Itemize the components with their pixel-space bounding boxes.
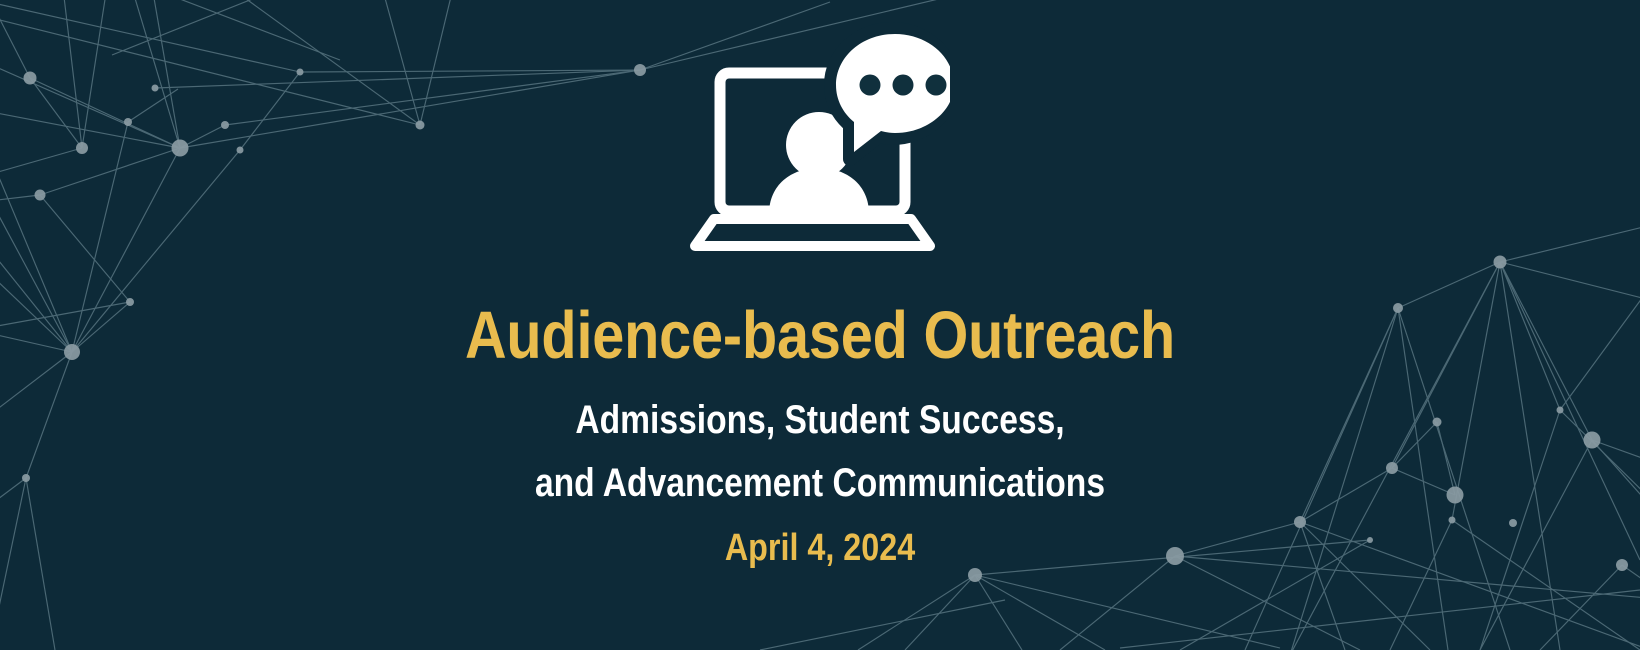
subtitle-line-2: and Advancement Communications: [131, 463, 1509, 503]
bubble-dot-3: [926, 75, 947, 96]
page-title: Audience-based Outreach: [115, 302, 1525, 369]
speech-bubble-group: [831, 29, 950, 159]
text-block: Audience-based Outreach Admissions, Stud…: [0, 302, 1640, 567]
event-date: April 4, 2024: [123, 529, 1517, 567]
laptop-video-person-chat-icon: [690, 22, 950, 254]
banner-content: Audience-based Outreach Admissions, Stud…: [0, 0, 1640, 650]
bubble-dot-1: [860, 75, 881, 96]
laptop-base-outline: [695, 219, 930, 246]
bubble-dot-2: [893, 75, 914, 96]
person-body-shape: [769, 168, 869, 216]
subtitle-line-1: Admissions, Student Success,: [131, 400, 1509, 440]
webinar-banner: Audience-based Outreach Admissions, Stud…: [0, 0, 1640, 650]
